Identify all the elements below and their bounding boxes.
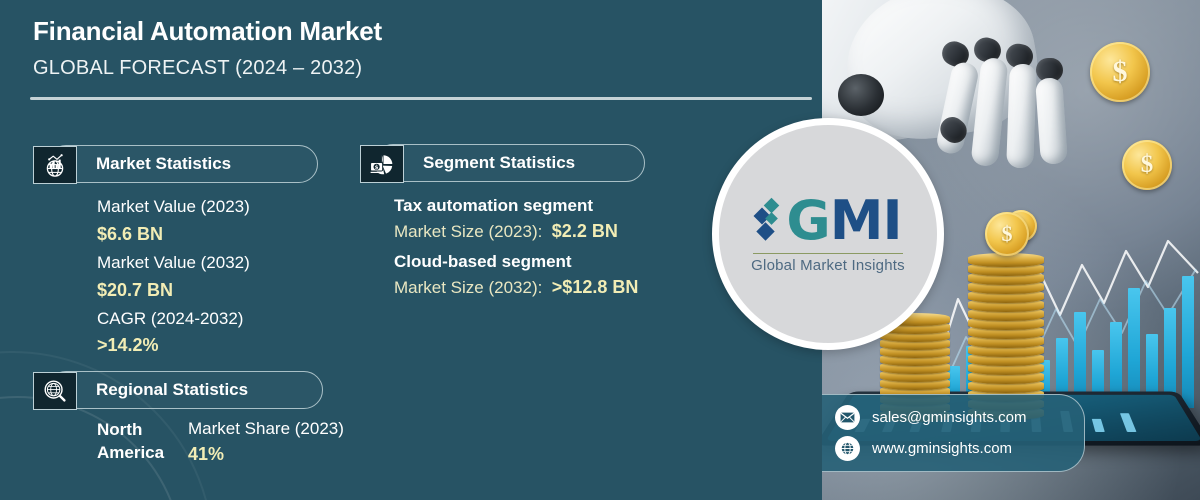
dollar-coin-medium: $ bbox=[1122, 140, 1172, 190]
gmi-logo-rule bbox=[753, 253, 903, 255]
page-title: Financial Automation Market bbox=[33, 16, 382, 47]
dollar-coin-on-stack: $ bbox=[985, 212, 1029, 256]
page-subtitle: GLOBAL FORECAST (2024 – 2032) bbox=[33, 57, 362, 80]
tablet-bar bbox=[1092, 419, 1105, 432]
tax-automation-size-value: $2.2 BN bbox=[552, 221, 618, 241]
header-divider bbox=[30, 97, 812, 100]
pie-chart-money-icon: $ bbox=[360, 145, 404, 183]
tax-automation-segment-row: Market Size (2023): $2.2 BN bbox=[394, 221, 618, 242]
coin-stack-tall bbox=[968, 234, 1044, 420]
market-share-label: Market Share (2023) bbox=[188, 419, 344, 439]
market-value-2023-value: $6.6 BN bbox=[97, 224, 163, 245]
market-value-2032-value: $20.7 BN bbox=[97, 280, 173, 301]
cloud-based-segment-name: Cloud-based segment bbox=[394, 252, 572, 272]
chart-bar bbox=[1128, 288, 1140, 408]
region-name-line1: North bbox=[97, 420, 142, 440]
robot-finger-3 bbox=[1006, 64, 1037, 169]
cloud-based-segment-row: Market Size (2032): >$12.8 BN bbox=[394, 277, 638, 298]
contact-website-row[interactable]: www.gminsights.com bbox=[822, 433, 1084, 464]
cagr-value: >14.2% bbox=[97, 335, 159, 356]
section-header-segment-statistics: $ Segment Statistics bbox=[360, 144, 645, 182]
globe-magnifier-icon bbox=[33, 372, 77, 410]
market-statistics-heading: Market Statistics bbox=[96, 154, 231, 174]
tablet-bar bbox=[1120, 413, 1137, 432]
gmi-letters-mi: MI bbox=[830, 189, 902, 252]
market-value-2032-label: Market Value (2032) bbox=[97, 253, 250, 273]
gmi-letter-g: G bbox=[786, 189, 829, 252]
gmi-logo-tagline: Global Market Insights bbox=[751, 257, 905, 274]
cloud-based-size-label: Market Size (2032): bbox=[394, 278, 542, 297]
market-share-value: 41% bbox=[188, 444, 224, 465]
contact-email-text: sales@gminsights.com bbox=[872, 409, 1026, 426]
gmi-diamond-icon bbox=[754, 198, 784, 244]
tax-automation-size-label: Market Size (2023): bbox=[394, 222, 542, 241]
robot-thumb-pad bbox=[838, 74, 884, 116]
svg-text:$: $ bbox=[375, 165, 379, 171]
left-content-panel: Financial Automation Market GLOBAL FOREC… bbox=[0, 0, 822, 500]
market-value-2023-label: Market Value (2023) bbox=[97, 197, 250, 217]
regional-statistics-heading: Regional Statistics bbox=[96, 380, 248, 400]
infographic-root: Financial Automation Market GLOBAL FOREC… bbox=[0, 0, 1200, 500]
gmi-logo-lettermark: GMI bbox=[754, 194, 901, 248]
globe-icon bbox=[835, 436, 860, 461]
segment-statistics-heading: Segment Statistics bbox=[423, 153, 575, 173]
globe-bar-chart-icon bbox=[33, 146, 77, 184]
gmi-logo-badge: GMI Global Market Insights bbox=[712, 118, 944, 350]
envelope-icon bbox=[835, 405, 860, 430]
tax-automation-segment-name: Tax automation segment bbox=[394, 196, 593, 216]
section-header-market-statistics: Market Statistics bbox=[33, 145, 318, 183]
dollar-coin-large: $ bbox=[1090, 42, 1150, 102]
section-header-regional-statistics: Regional Statistics bbox=[33, 371, 323, 409]
contact-email-row[interactable]: sales@gminsights.com bbox=[822, 402, 1084, 433]
cloud-based-size-value: >$12.8 BN bbox=[552, 277, 639, 297]
chart-bar bbox=[1182, 276, 1194, 408]
contact-website-text: www.gminsights.com bbox=[872, 440, 1012, 457]
cagr-label: CAGR (2024-2032) bbox=[97, 309, 243, 329]
region-name-line2: America bbox=[97, 443, 164, 463]
gmi-logo-text: GMI bbox=[786, 194, 901, 248]
contact-bar: sales@gminsights.com www.gminsights.com bbox=[822, 394, 1085, 472]
